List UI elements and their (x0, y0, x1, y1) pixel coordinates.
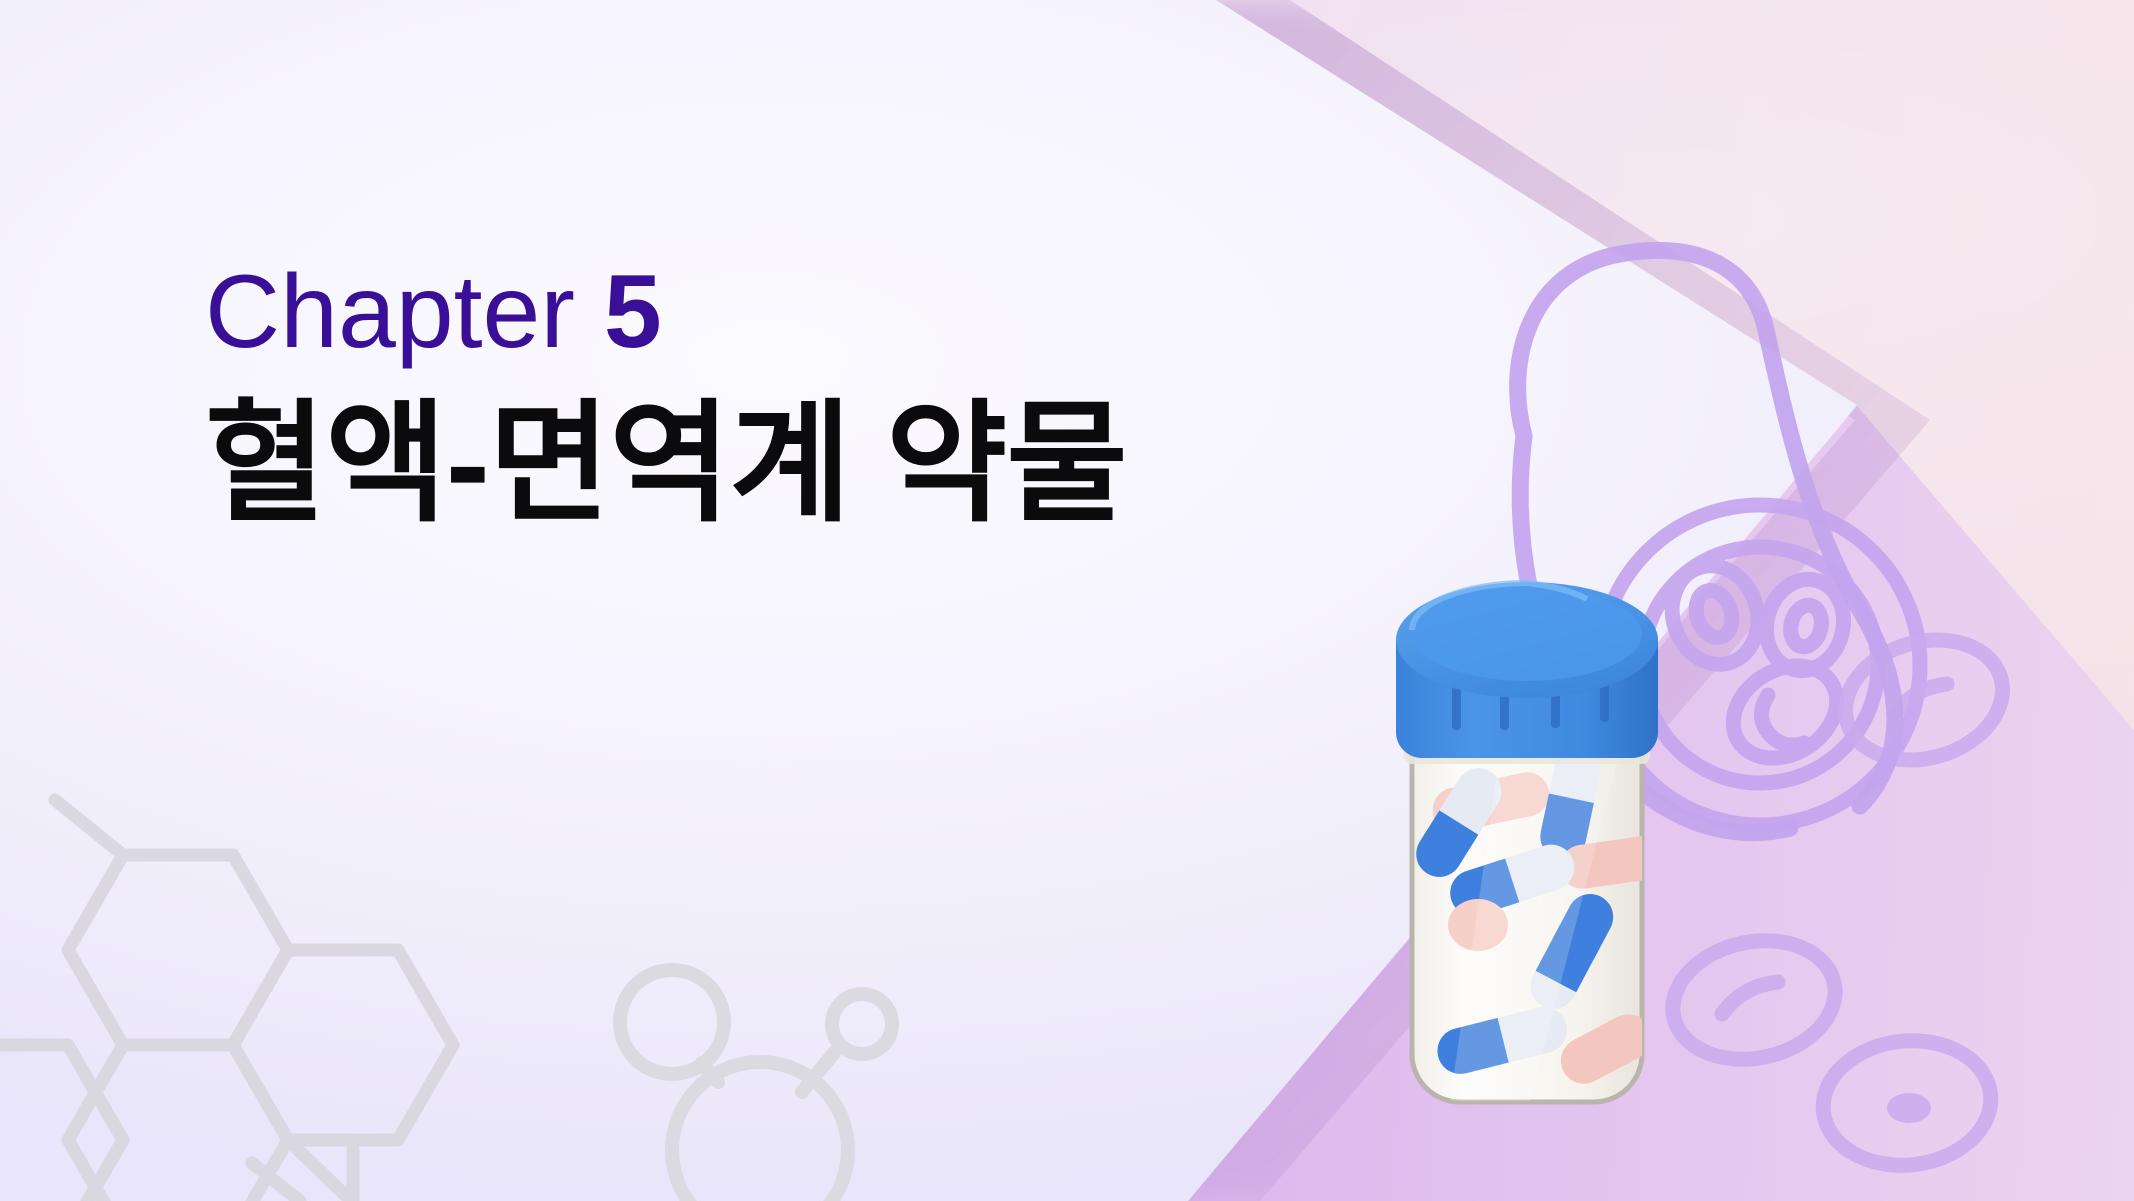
page-title: 혈액-면역계 약물 (205, 393, 1127, 536)
chapter-label: Chapter (205, 254, 575, 370)
chapter-line: Chapter 5 (205, 258, 1127, 367)
title-text-block: Chapter 5 혈액-면역계 약물 (205, 258, 1127, 536)
chapter-number: 5 (604, 254, 662, 370)
chapter-title-slide: Chapter 5 혈액-면역계 약물 (0, 0, 2134, 1201)
